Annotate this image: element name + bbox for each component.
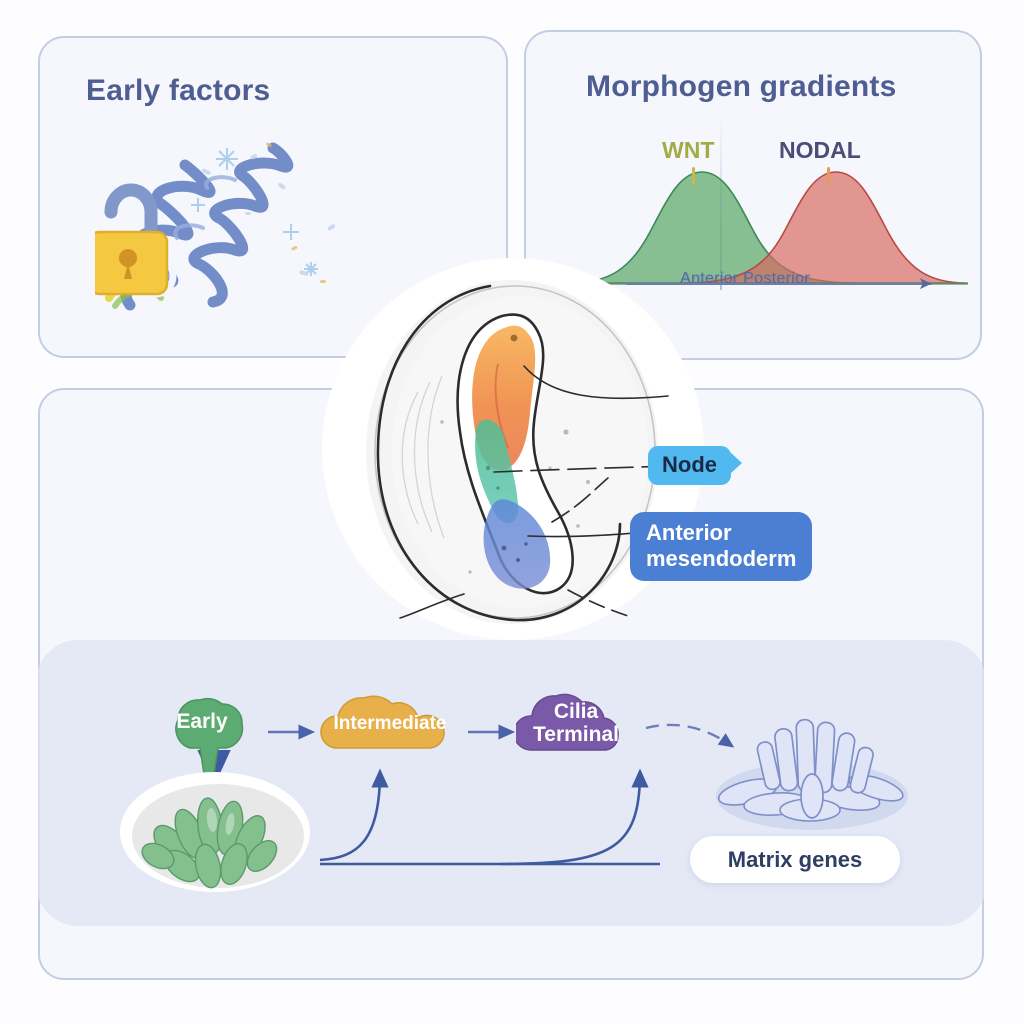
callout-anterior-mesendoderm: Anterior mesendoderm [630, 512, 812, 581]
callout-node: Node [648, 446, 731, 485]
green-cell-cluster-icon [118, 762, 312, 894]
ciliated-cell-cluster-icon [690, 700, 930, 840]
feedback-arrow-to-intermediate [320, 772, 380, 860]
peak-tick-nodal [827, 167, 830, 185]
peak-tick-wnt [692, 167, 695, 185]
flow-node-cilia-terminal[interactable]: Cilia Terminal [516, 684, 636, 762]
panel-early-factors-title: Early factors [86, 74, 270, 108]
diagram-canvas: Early factors [0, 0, 1024, 1024]
arrow-right-icon: ➤ [918, 274, 932, 294]
embryo-diagram-icon [352, 272, 682, 632]
matrix-genes-label: Matrix genes [728, 847, 863, 873]
anterior-posterior-axis-label: Anterior Posterior [680, 270, 810, 288]
flow-node-intermediate-label: Intermediate [334, 714, 447, 735]
curve-label-nodal: NODAL [779, 137, 861, 164]
flow-node-cilia-terminal-label: Cilia Terminal [533, 700, 619, 746]
flow-node-early[interactable]: Early [148, 684, 256, 760]
feedback-arrow-to-cilia [500, 772, 640, 864]
flow-node-intermediate[interactable]: Intermediate [320, 690, 460, 758]
panel-morphogen-gradients-title: Morphogen gradients [586, 70, 896, 104]
curve-label-wnt: WNT [662, 137, 714, 164]
padlock-icon [95, 190, 167, 294]
matrix-genes-pill[interactable]: Matrix genes [690, 836, 900, 883]
flow-node-early-label: Early [176, 710, 227, 733]
